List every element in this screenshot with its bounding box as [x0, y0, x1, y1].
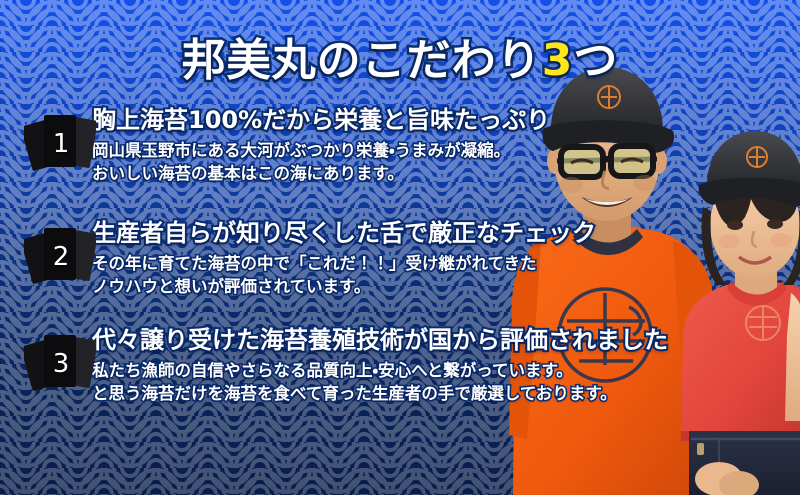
badge-number: 3: [24, 330, 96, 396]
list-item-heading: 胸上海苔100%だから栄養と旨味たっぷり: [92, 106, 550, 135]
description-line: 私たち漁師の自信やさらなる品質向上・安心へと繋がっています。: [92, 360, 668, 383]
nori-sheets-icon: 1: [24, 110, 96, 176]
banner-root: 邦美丸のこだわり3つ 1 胸上海苔100%だから栄養と旨味たっぷり 岡山県玉野市…: [0, 0, 800, 495]
list-item-body: 胸上海苔100%だから栄養と旨味たっぷり 岡山県玉野市にある大河がぶつかり栄養・…: [92, 106, 550, 185]
list-item: 2 生産者自らが知り尽くした舌で厳正なチェック その年に育てた海苔の中で「これだ…: [24, 219, 596, 298]
nori-sheets-icon: 2: [24, 223, 96, 289]
title-main-text: 邦美丸のこだわり: [182, 35, 542, 86]
list-item: 3 代々譲り受けた海苔養殖技術が国から評価されました 私たち漁師の自信やさらなる…: [24, 326, 668, 405]
description-line: 岡山県玉野市にある大河がぶつかり栄養・うまみが凝縮。: [92, 140, 550, 163]
description-line: その年に育てた海苔の中で「これだ！！」受け継がれてきた: [92, 253, 596, 276]
title-number: 3: [542, 35, 574, 86]
list-item-body: 生産者自らが知り尽くした舌で厳正なチェック その年に育てた海苔の中で「これだ！！…: [92, 219, 596, 298]
description-line: と思う海苔だけを海苔を食べて育った生産者の手で厳選しております。: [92, 383, 668, 406]
badge-number: 2: [24, 223, 96, 289]
description-line: おいしい海苔の基本はこの海にあります。: [92, 163, 550, 186]
badge-number: 1: [24, 110, 96, 176]
list-item-description: その年に育てた海苔の中で「これだ！！」受け継がれてきた ノウハウと想いが評価され…: [92, 253, 596, 299]
list-item-description: 私たち漁師の自信やさらなる品質向上・安心へと繋がっています。 と思う海苔だけを海…: [92, 360, 668, 406]
description-line: ノウハウと想いが評価されています。: [92, 276, 596, 299]
list-item-description: 岡山県玉野市にある大河がぶつかり栄養・うまみが凝縮。 おいしい海苔の基本はこの海…: [92, 140, 550, 186]
list-item: 1 胸上海苔100%だから栄養と旨味たっぷり 岡山県玉野市にある大河がぶつかり栄…: [24, 106, 550, 185]
nori-sheets-icon: 3: [24, 330, 96, 396]
page-title: 邦美丸のこだわり3つ: [0, 24, 800, 88]
list-item-heading: 代々譲り受けた海苔養殖技術が国から評価されました: [92, 326, 668, 355]
list-item-heading: 生産者自らが知り尽くした舌で厳正なチェック: [92, 219, 596, 248]
title-suffix: つ: [573, 35, 618, 86]
list-item-body: 代々譲り受けた海苔養殖技術が国から評価されました 私たち漁師の自信やさらなる品質…: [92, 326, 668, 405]
